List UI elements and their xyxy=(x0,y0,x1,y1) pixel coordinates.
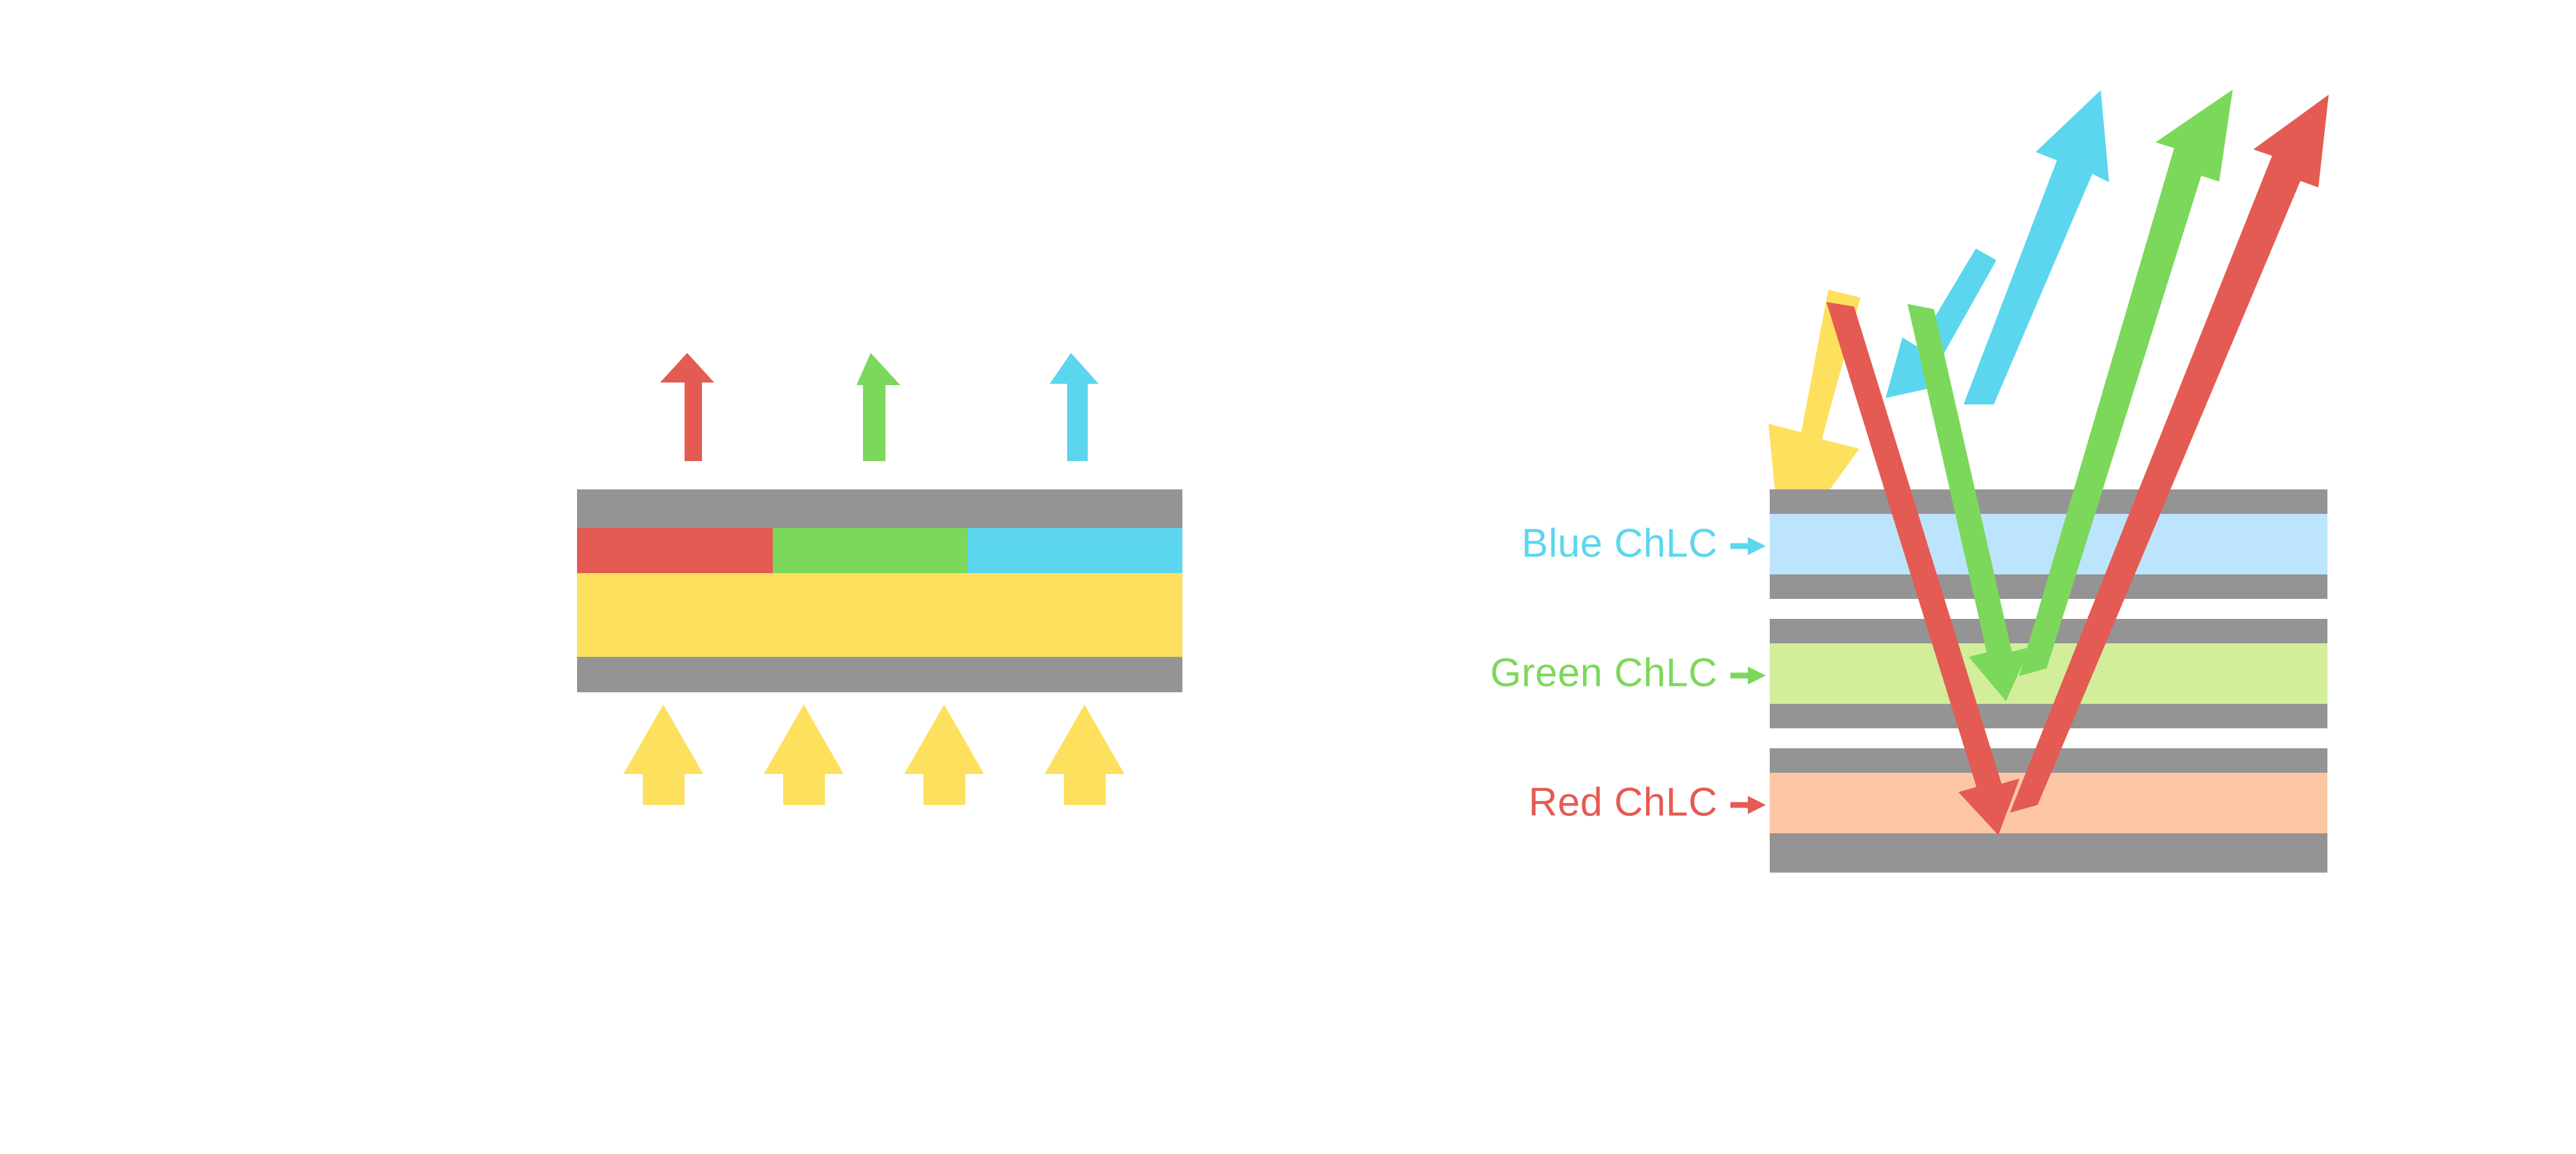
left-stack xyxy=(577,489,1182,692)
right-panel-labels: Blue ChLC Green ChLC xyxy=(1490,521,1766,824)
blue-chlc-layer xyxy=(1770,514,2327,574)
figure-root: Blue ChLC Green ChLC xyxy=(0,0,2576,1154)
label-green-chlc-text: Green ChLC xyxy=(1490,650,1718,695)
blue-reflected-beam xyxy=(1886,90,2109,404)
label-red-chlc-text: Red ChLC xyxy=(1529,780,1718,824)
left-bottom-electrode xyxy=(577,657,1182,692)
left-top-electrode xyxy=(577,489,1182,528)
label-red-chlc: Red ChLC xyxy=(1529,780,1766,824)
backlight-arrow-2 xyxy=(764,705,844,805)
right-panel: Blue ChLC Green ChLC xyxy=(1490,90,2329,873)
backlight-arrow-1 xyxy=(623,705,703,805)
left-emitted-arrows xyxy=(660,353,1099,461)
right-stack xyxy=(1770,489,2327,873)
label-green-chlc-arrow-icon xyxy=(1730,667,1766,685)
red-emitted-light-arrow xyxy=(660,353,714,461)
backlight-arrow-3 xyxy=(904,705,984,805)
blue-ray-outgoing xyxy=(1964,90,2109,404)
left-green-subpixel xyxy=(773,528,968,573)
green-emitted-light-arrow xyxy=(857,353,900,461)
label-blue-chlc-arrow-icon xyxy=(1730,537,1766,555)
label-blue-chlc: Blue ChLC xyxy=(1522,521,1766,565)
label-blue-chlc-text: Blue ChLC xyxy=(1522,521,1718,565)
label-red-chlc-arrow-icon xyxy=(1730,796,1766,814)
left-red-subpixel xyxy=(577,528,773,573)
left-panel xyxy=(577,353,1182,805)
left-blue-subpixel xyxy=(968,528,1182,573)
blue-top-electrode xyxy=(1770,489,2327,514)
left-backlight-arrows xyxy=(623,705,1124,805)
left-backlight-layer xyxy=(577,573,1182,657)
red-bottom-electrode xyxy=(1770,833,2327,873)
blue-emitted-light-arrow xyxy=(1050,353,1099,461)
label-green-chlc: Green ChLC xyxy=(1490,650,1766,695)
chlc-display-diagram: Blue ChLC Green ChLC xyxy=(0,0,2576,1154)
red-chlc-layer xyxy=(1770,773,2327,833)
backlight-arrow-4 xyxy=(1045,705,1124,805)
